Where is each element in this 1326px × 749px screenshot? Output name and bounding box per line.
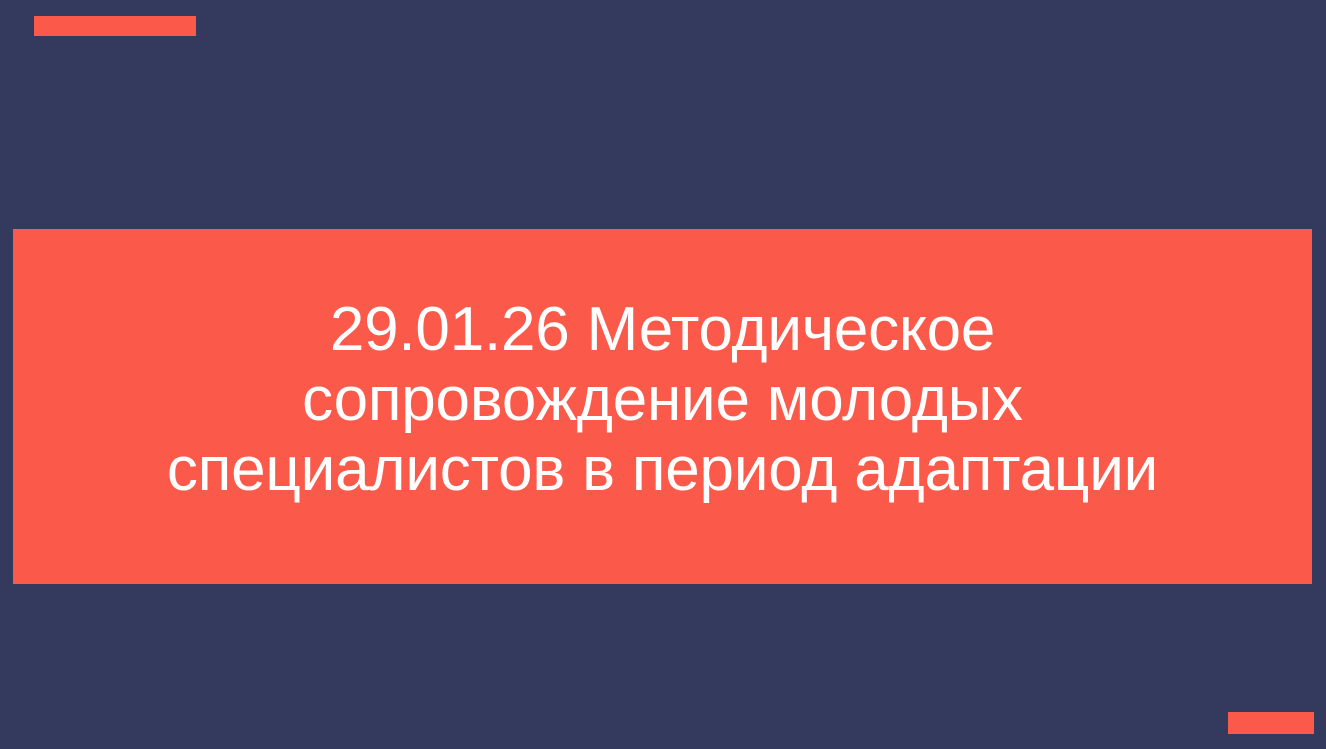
title-line-1: 29.01.26 Методическое <box>31 295 1294 365</box>
title-line-2: сопровождение молодых <box>31 365 1294 435</box>
slide-canvas: 29.01.26 Методическое сопровождение моло… <box>0 0 1326 749</box>
page-title: 29.01.26 Методическое сопровождение моло… <box>13 295 1312 505</box>
title-line-3: специалистов в период адаптации <box>31 435 1294 505</box>
title-banner: 29.01.26 Методическое сопровождение моло… <box>13 229 1312 584</box>
accent-bar-bottom-right <box>1228 712 1314 734</box>
accent-bar-top-left <box>34 16 196 36</box>
